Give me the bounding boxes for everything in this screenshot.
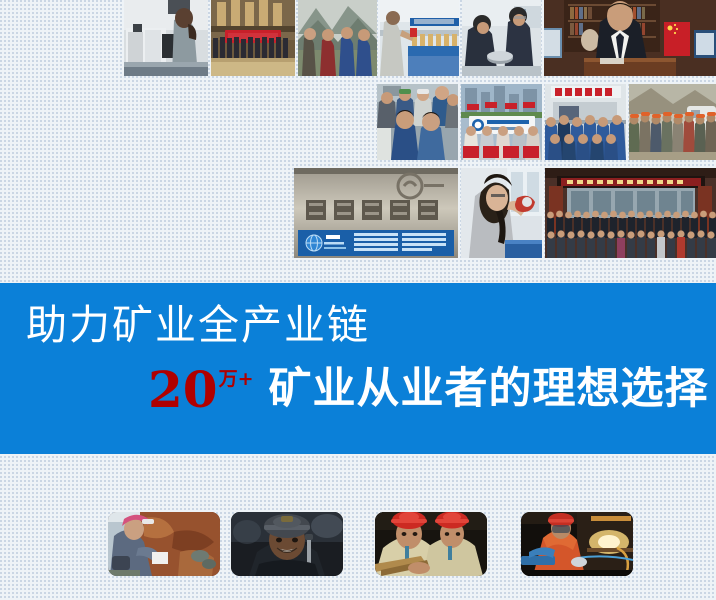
photo-workers-on-mountain-site xyxy=(298,0,377,76)
photo-engineers-in-workshop xyxy=(462,0,541,76)
photo-furnace-operator xyxy=(521,512,633,576)
bottom-photo-strip xyxy=(0,454,716,600)
banner-slogan: 矿业从业者的理想选择 xyxy=(269,364,709,414)
photo-woman-holding-sample xyxy=(461,168,542,258)
banner-headline-line1: 助力矿业全产业链 xyxy=(26,305,370,346)
photo-industry-conference-2017 xyxy=(545,168,716,258)
photo-flotation-test-bench xyxy=(380,0,459,76)
photo-collage xyxy=(0,0,716,283)
user-count-suffix: 万+ xyxy=(219,368,254,390)
photo-field-crew-with-van xyxy=(629,84,716,160)
promo-banner: 助力矿业全产业链 20万+矿业从业者的理想选择 xyxy=(0,283,716,454)
banner-headline-line2: 20万+矿业从业者的理想选择 xyxy=(148,365,709,415)
photo-outdoor-banner-team xyxy=(461,84,542,160)
user-count-number: 20 xyxy=(148,360,218,419)
photo-company-signboard-tianzhou xyxy=(294,168,458,258)
photo-two-workers-red-helmets xyxy=(375,512,487,576)
photo-mine-crew-group-photo xyxy=(377,84,458,160)
photo-lab-technician-at-microscope xyxy=(124,0,208,76)
photo-conference-award-ceremony xyxy=(211,0,295,76)
photo-geologist-sampling-outcrop xyxy=(108,512,220,576)
photo-jiyigou-gold-mine-staff xyxy=(545,84,626,160)
photo-chairman-office-portrait xyxy=(544,0,716,76)
photo-miner-with-helmet-smiling xyxy=(231,512,343,576)
